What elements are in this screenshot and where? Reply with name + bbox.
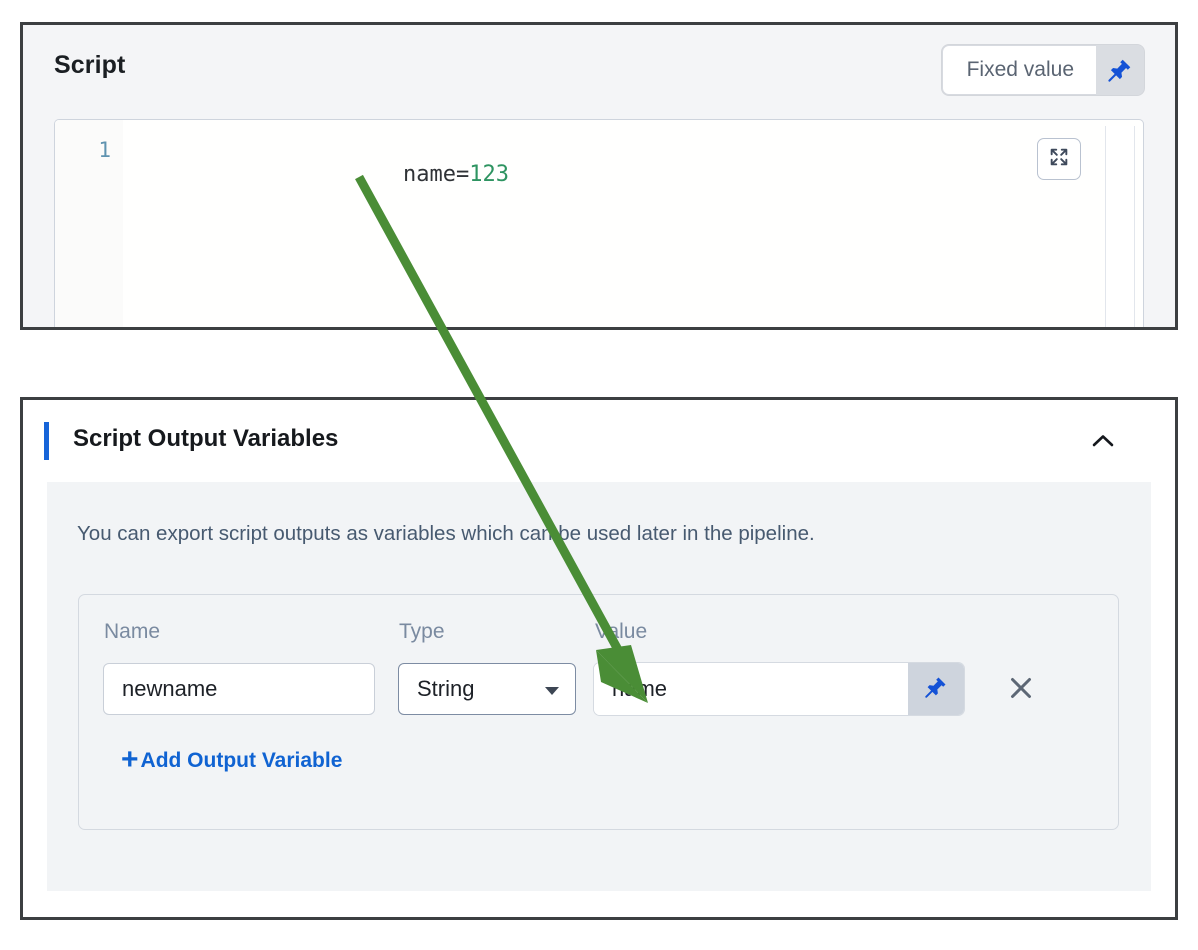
variable-type-select[interactable]: String: [398, 663, 576, 715]
variable-value-control[interactable]: name: [594, 663, 964, 715]
editor-code-line[interactable]: name=123: [297, 137, 509, 212]
expand-fullscreen-icon: [1048, 146, 1070, 173]
script-output-variables-body: You can export script outputs as variabl…: [47, 482, 1151, 891]
section-accent-bar: [44, 422, 49, 460]
column-header-value: Value: [595, 620, 647, 644]
expand-editor-button[interactable]: [1037, 138, 1081, 180]
chevron-down-icon: [545, 687, 559, 695]
add-output-variable-label: Add Output Variable: [141, 749, 343, 773]
variable-name-input[interactable]: newname: [103, 663, 375, 715]
output-variables-description: You can export script outputs as variabl…: [77, 522, 815, 546]
fixed-value-button[interactable]: Fixed value: [942, 45, 1096, 95]
script-panel: Script Fixed value 1 name=123: [20, 22, 1178, 330]
fixed-value-control[interactable]: Fixed value: [942, 45, 1144, 95]
script-output-variables-title: Script Output Variables: [73, 425, 338, 453]
script-output-variables-header[interactable]: Script Output Variables: [23, 400, 1175, 482]
editor-vertical-scrollbar[interactable]: [1105, 126, 1135, 327]
code-token-value: 123: [469, 162, 509, 187]
script-panel-header: Script Fixed value: [23, 25, 1175, 111]
screenshot-stage: Script Fixed value 1 name=123: [0, 0, 1198, 950]
editor-gutter: 1: [55, 120, 123, 327]
fixed-value-pin-button[interactable]: [1096, 45, 1144, 95]
variable-type-value: String: [417, 676, 474, 702]
editor-line-number: 1: [98, 138, 111, 162]
variable-value-pin-button[interactable]: [908, 663, 964, 715]
column-header-name: Name: [104, 620, 160, 644]
column-header-type: Type: [399, 620, 445, 644]
remove-variable-button[interactable]: [1004, 671, 1038, 705]
script-output-variables-panel: Script Output Variables You can export s…: [20, 397, 1178, 920]
output-variables-table: Name Type Value newname String name: [78, 594, 1119, 830]
plus-icon: +: [121, 745, 139, 775]
chevron-up-icon[interactable]: [1089, 430, 1117, 452]
script-panel-title: Script: [54, 51, 125, 80]
code-token-assignment: name=: [403, 162, 469, 187]
add-output-variable-button[interactable]: + Add Output Variable: [121, 747, 342, 775]
pushpin-icon: [924, 675, 948, 704]
variable-value-input[interactable]: name: [594, 663, 908, 715]
code-editor[interactable]: 1 name=123: [54, 119, 1144, 327]
pushpin-icon: [1107, 57, 1133, 83]
table-row: newname String name: [79, 663, 1118, 717]
